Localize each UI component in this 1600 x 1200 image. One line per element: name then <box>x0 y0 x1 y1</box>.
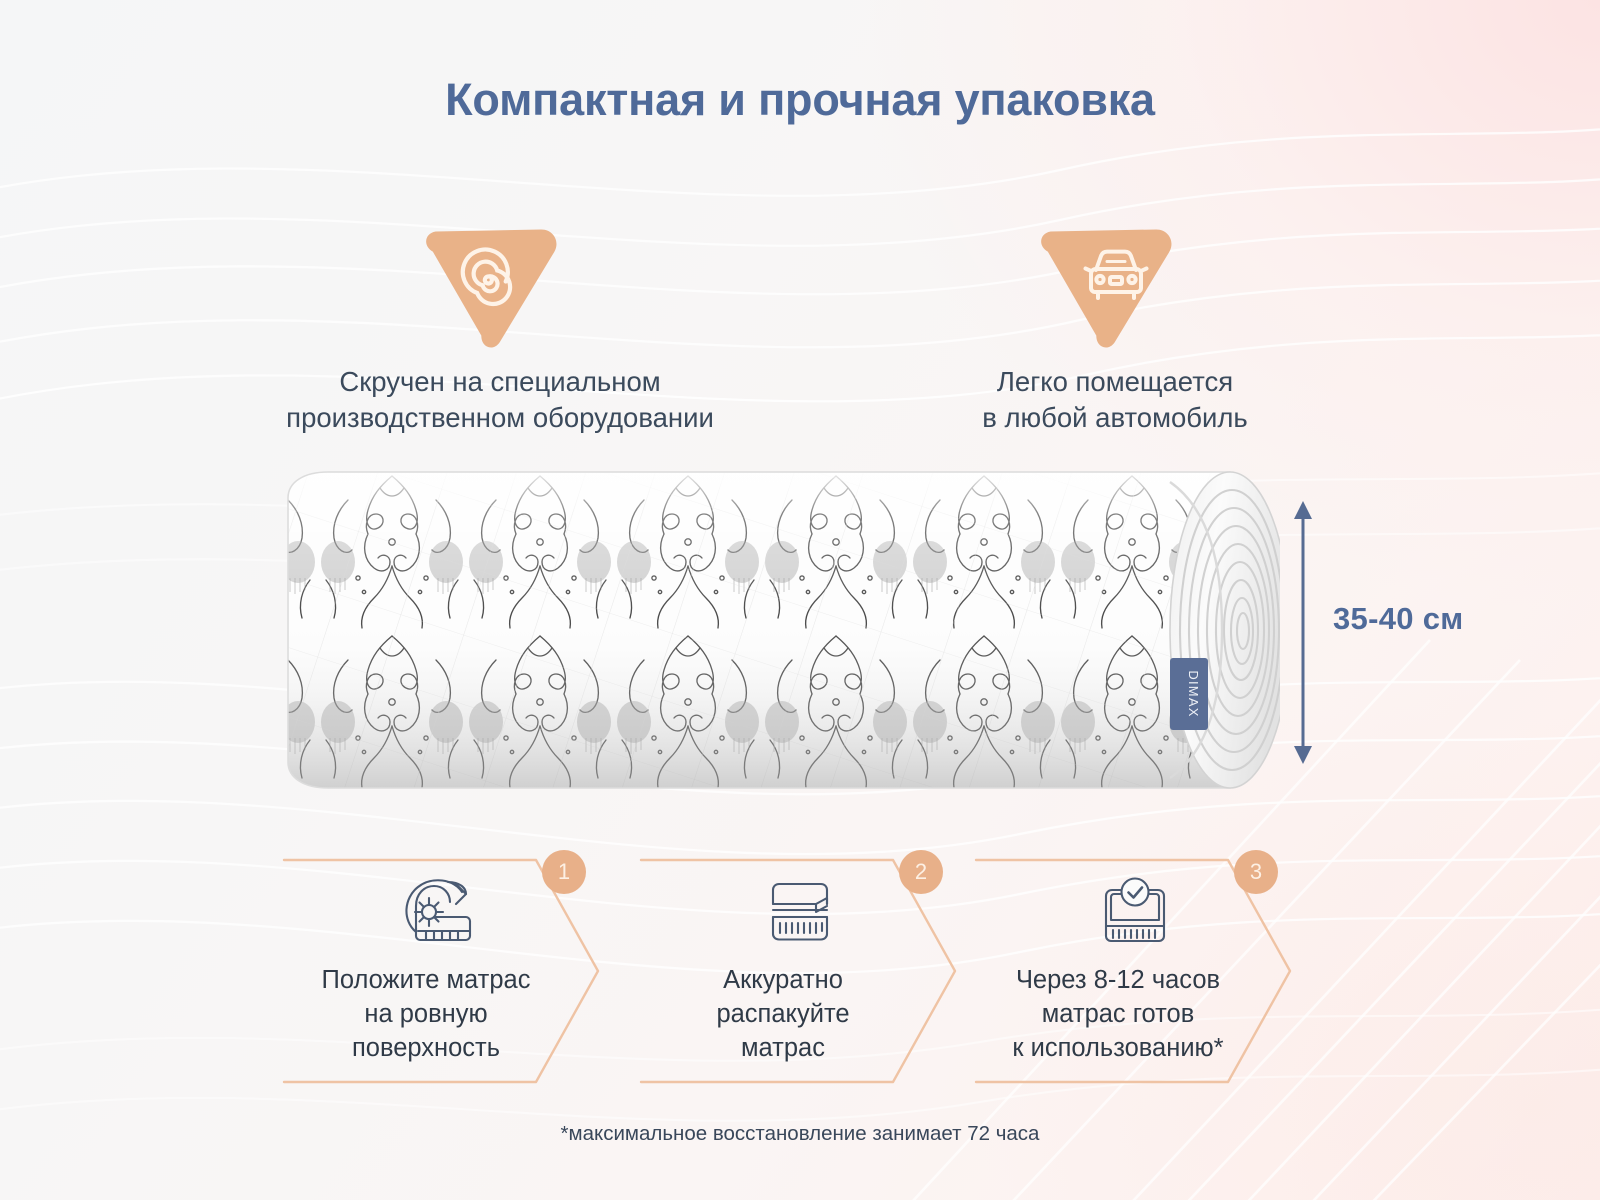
feature-icon-wrap <box>835 200 1395 350</box>
step-item[interactable]: 3 Через 8-12 часов матр <box>970 846 1300 1096</box>
step-icon-wrap <box>278 876 608 948</box>
step-text: Через 8-12 часов матрас готов к использо… <box>970 964 1266 1066</box>
step-item[interactable]: 2 Аккуратн <box>635 846 965 1096</box>
mattress-fabric <box>170 470 1280 790</box>
steps-row: 1 <box>278 846 1322 1096</box>
brand-tag-label: DIMAX <box>1186 670 1201 717</box>
step-icon-wrap <box>635 876 965 948</box>
step-item[interactable]: 1 <box>278 846 608 1096</box>
step-text: Аккуратно распакуйте матрас <box>635 964 931 1066</box>
feature-caption: Легко помещается в любой автомобиль <box>835 364 1395 437</box>
page-title: Компактная и прочная упаковка <box>0 74 1600 126</box>
feature-fits-any-car: Легко помещается в любой автомобиль <box>835 200 1395 437</box>
infographic-canvas: Компактная и прочная упаковка Скручен на… <box>0 0 1600 1200</box>
mattress-check-icon <box>1098 876 1172 948</box>
tape-measure-roll-icon <box>404 876 482 948</box>
step-icon-wrap <box>970 876 1300 948</box>
rolled-mattress: DIMAX <box>170 470 1280 790</box>
feature-caption: Скручен на специальном производственном … <box>180 364 820 437</box>
roll-end-spiral <box>1170 472 1280 788</box>
footnote: *максимальное восстановление занимает 72… <box>0 1122 1600 1146</box>
dimension-label: 35-40 см <box>1333 601 1463 637</box>
spiral-roll-icon <box>425 200 575 350</box>
car-front-icon <box>1040 200 1190 350</box>
feature-rolled-on-equipment: Скручен на специальном производственном … <box>180 200 820 437</box>
step-text: Положите матрас на ровную поверхность <box>278 964 574 1066</box>
dimension-indicator: 35-40 см <box>1285 495 1565 770</box>
mattress-unpack-icon <box>764 876 836 948</box>
brand-tag: DIMAX <box>1170 658 1208 730</box>
feature-icon-wrap <box>180 200 820 350</box>
